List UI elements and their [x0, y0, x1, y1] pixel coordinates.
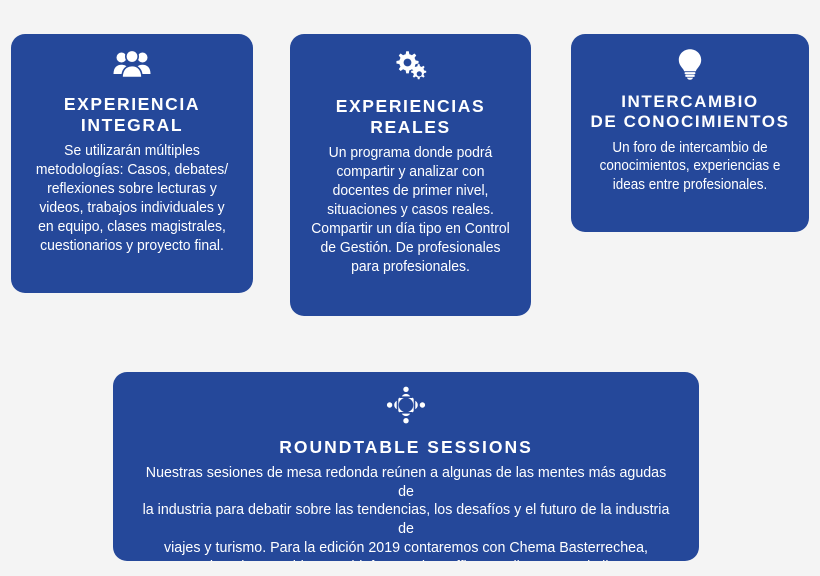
card-intercambio-conocimientos[interactable]: INTERCAMBIO DE CONOCIMIENTOS Un foro de …: [571, 34, 809, 232]
card-body: Un foro de intercambio de conocimientos,…: [585, 139, 795, 194]
gears-icon: [300, 50, 521, 82]
card-body: Nuestras sesiones de mesa redonda reúnen…: [137, 464, 675, 561]
card-roundtable-sessions[interactable]: ROUNDTABLE SESSIONS Nuestras sesiones de…: [113, 372, 699, 561]
people-group-icon: [21, 50, 243, 80]
card-title: INTERCAMBIO DE CONOCIMIENTOS: [577, 92, 803, 132]
card-title: EXPERIENCIA INTEGRAL: [21, 94, 243, 135]
card-title: EXPERIENCIAS REALES: [300, 96, 521, 137]
card-experiencia-integral[interactable]: EXPERIENCIA INTEGRAL Se utilizarán múlti…: [11, 34, 253, 293]
card-experiencias-reales[interactable]: EXPERIENCIAS REALES Un programa donde po…: [290, 34, 531, 316]
card-body: Se utilizarán múltiples metodologías: Ca…: [29, 142, 235, 255]
card-body: Un programa donde podrá compartir y anal…: [308, 144, 514, 276]
lightbulb-icon: [577, 48, 803, 80]
benefits-card-grid: EXPERIENCIA INTEGRAL Se utilizarán múlti…: [0, 0, 820, 576]
card-title: ROUNDTABLE SESSIONS: [123, 437, 689, 458]
roundtable-icon: [123, 386, 689, 424]
